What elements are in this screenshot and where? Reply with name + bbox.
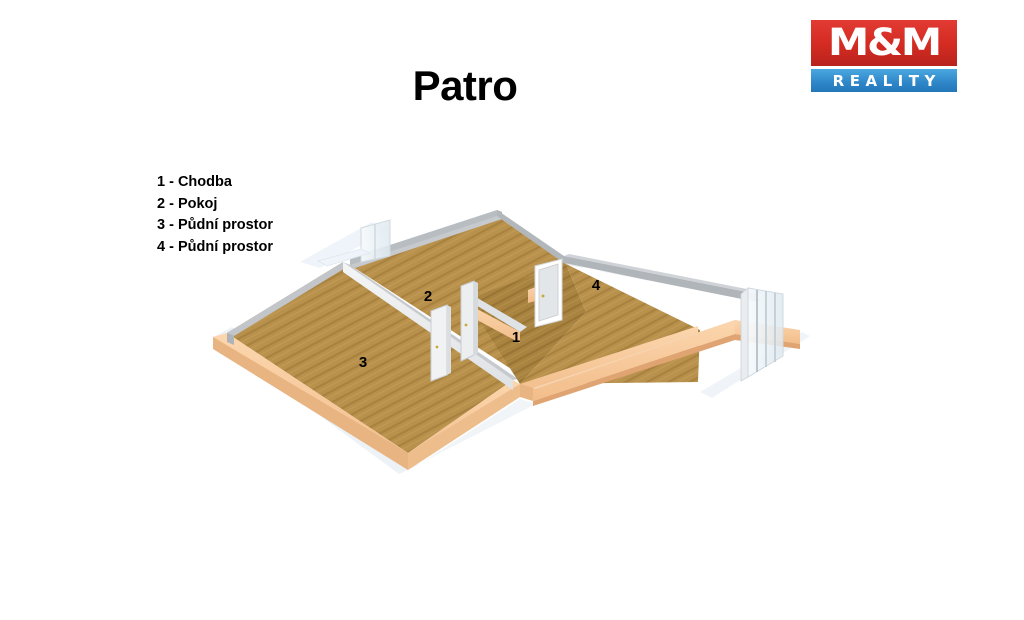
door-hallway-west-2-edge bbox=[447, 305, 451, 375]
door-hallway-west-2[interactable] bbox=[431, 305, 451, 381]
window-east-gable[interactable] bbox=[741, 288, 783, 381]
door-hallway-west-2-panel[interactable] bbox=[431, 305, 447, 381]
door-hallway-west-2-handle bbox=[436, 346, 439, 349]
door-hallway-west[interactable] bbox=[461, 281, 478, 361]
floorplan-page: Patro 1 - Chodba 2 - Pokoj 3 - Půdní pro… bbox=[0, 0, 1024, 620]
patro-3d-floorplan: 3 2 1 4 bbox=[0, 0, 1024, 620]
window-east-gable-post bbox=[741, 288, 748, 381]
door-hallway-east[interactable] bbox=[535, 259, 562, 327]
room-label-3: 3 bbox=[359, 354, 367, 371]
door-hallway-west-edge bbox=[474, 281, 478, 355]
door-hallway-east-panel[interactable] bbox=[539, 264, 558, 321]
room-label-4: 4 bbox=[592, 277, 601, 294]
room-label-2: 2 bbox=[424, 288, 432, 305]
door-hallway-west-panel[interactable] bbox=[461, 281, 474, 361]
door-hallway-east-handle bbox=[542, 295, 545, 298]
room-label-1: 1 bbox=[512, 329, 520, 346]
door-hallway-west-handle bbox=[465, 324, 468, 327]
